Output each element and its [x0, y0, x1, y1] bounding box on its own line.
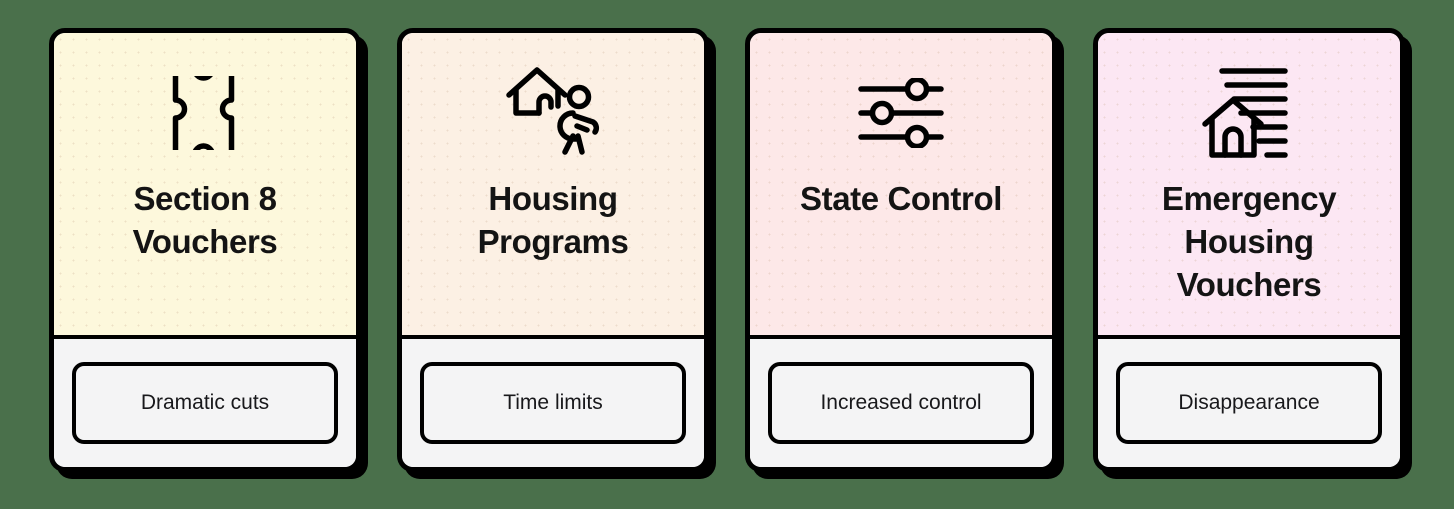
card-title: Section 8 Vouchers [133, 177, 278, 263]
card-top-panel: Emergency Housing Vouchers [1098, 33, 1400, 339]
house-motion-lines-icon [1201, 61, 1297, 165]
card-section-8-vouchers[interactable]: Section 8 Vouchers Dramatic cuts [49, 28, 361, 472]
card-title: State Control [800, 177, 1002, 220]
card-emergency-housing-vouchers[interactable]: Emergency Housing Vouchers Disappearance [1093, 28, 1405, 472]
card-top-panel: Section 8 Vouchers [54, 33, 356, 339]
card-row: Section 8 Vouchers Dramatic cuts [0, 0, 1454, 509]
footer-pill-button[interactable]: Time limits [420, 362, 686, 444]
footer-pill-button[interactable]: Increased control [768, 362, 1034, 444]
sliders-icon [857, 61, 945, 165]
ticket-percent-icon [158, 61, 252, 165]
footer-pill-button[interactable]: Disappearance [1116, 362, 1382, 444]
card-state-control[interactable]: State Control Increased control [745, 28, 1057, 472]
card-housing-programs[interactable]: Housing Programs Time limits [397, 28, 709, 472]
card-top-panel: State Control [750, 33, 1052, 339]
card-top-panel: Housing Programs [402, 33, 704, 339]
card-title: Emergency Housing Vouchers [1162, 177, 1336, 307]
card-footer: Disappearance [1098, 339, 1400, 467]
footer-pill-button[interactable]: Dramatic cuts [72, 362, 338, 444]
card-footer: Increased control [750, 339, 1052, 467]
house-person-icon [503, 61, 603, 165]
card-title: Housing Programs [478, 177, 629, 263]
card-footer: Dramatic cuts [54, 339, 356, 467]
card-footer: Time limits [402, 339, 704, 467]
